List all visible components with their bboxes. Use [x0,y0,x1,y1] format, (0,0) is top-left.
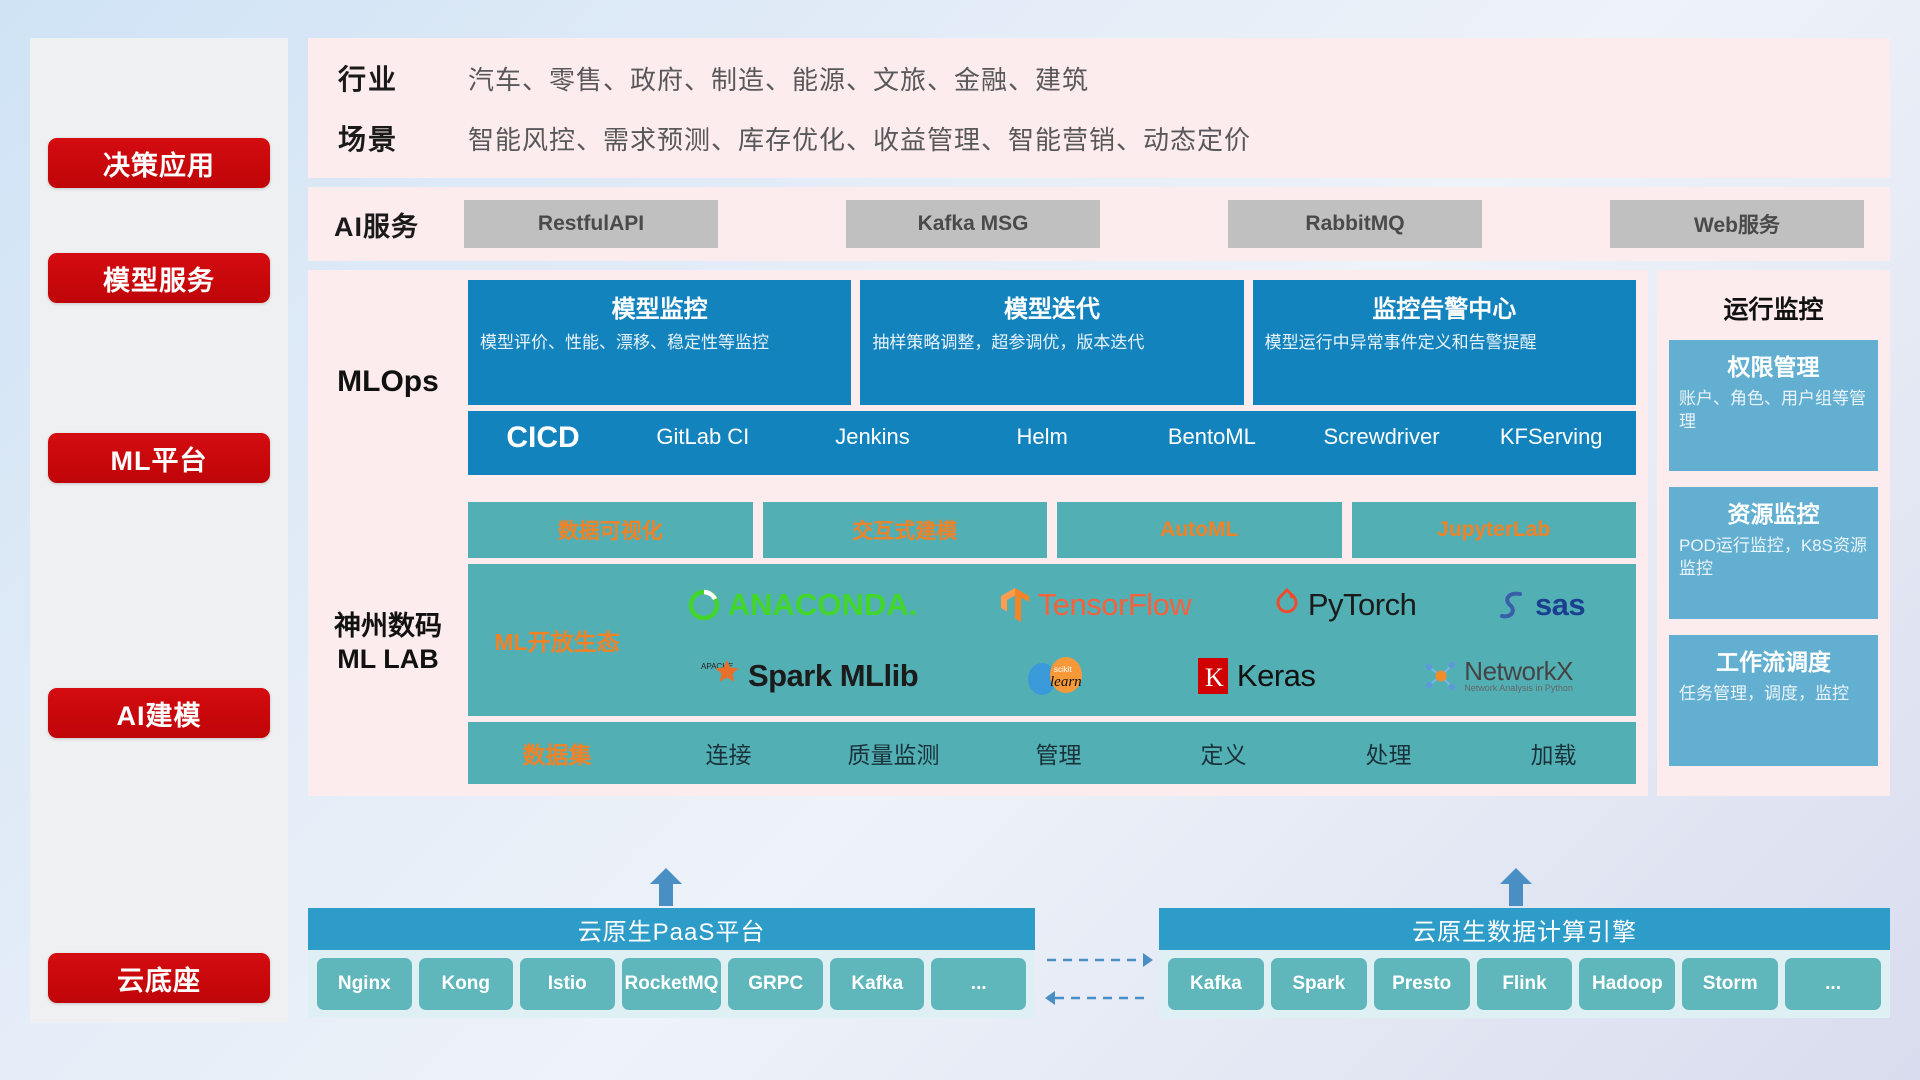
industry-value: 汽车、零售、政府、制造、能源、文旅、金融、建筑 [468,60,1089,97]
card-desc: 模型评价、性能、漂移、稳定性等监控 [480,332,839,355]
dataset-item-load[interactable]: 加载 [1471,736,1636,770]
ai-modeling-band: 神州数码 ML LAB 数据可视化 交互式建模 AutoML JupyterLa… [308,492,1648,796]
dataset-item-quality[interactable]: 质量监测 [811,736,976,770]
dataset-item-manage[interactable]: 管理 [976,736,1141,770]
tool-interactive-modeling[interactable]: 交互式建模 [763,502,1048,558]
stage-badge-cloud-base[interactable]: 云底座 [48,953,270,1003]
ai-service-item-restfulapi[interactable]: RestfulAPI [464,200,718,248]
pytorch-logo[interactable]: PyTorch [1273,587,1416,623]
card-desc: 任务管理，调度，监控 [1679,683,1868,706]
industry-row: 行业 汽车、零售、政府、制造、能源、文旅、金融、建筑 [338,58,1890,98]
ai-service-item-rabbitmq[interactable]: RabbitMQ [1228,200,1482,248]
ml-ecosystem-label: ML开放生态 [468,623,646,657]
chip-more-data[interactable]: ... [1785,958,1881,1010]
svg-text:learn: learn [1050,674,1082,690]
pytorch-icon [1273,588,1301,622]
dataset-item-process[interactable]: 处理 [1306,736,1471,770]
architecture-main: 行业 汽车、零售、政府、制造、能源、文旅、金融、建筑 场景 智能风控、需求预测、… [308,38,1890,796]
stage-badge-model-service[interactable]: 模型服务 [48,253,270,303]
cloud-data-engine-group: 云原生数据计算引擎 Kafka Spark Presto Flink Hadoo… [1159,908,1890,1018]
keras-icon: K [1196,656,1230,696]
spark-wordmark: Spark MLlib [748,658,918,694]
sas-wordmark: sas [1535,587,1585,623]
chip-spark[interactable]: Spark [1271,958,1367,1010]
ai-service-band: AI服务 RestfulAPI Kafka MSG RabbitMQ Web服务 [308,187,1890,261]
mllab-label: 神州数码 ML LAB [308,502,468,784]
run-monitor-card-workflow[interactable]: 工作流调度 任务管理，调度，监控 [1669,635,1878,766]
tool-data-visualization[interactable]: 数据可视化 [468,502,753,558]
scikit-learn-icon: scikit learn [1024,655,1090,697]
chip-storm[interactable]: Storm [1682,958,1778,1010]
spark-mllib-logo[interactable]: APACHE Spark MLlib [699,656,918,696]
card-title: 权限管理 [1679,348,1868,382]
tensorflow-wordmark: TensorFlow [1038,587,1192,623]
dataset-label: 数据集 [468,736,646,770]
keras-logo[interactable]: K Keras [1196,656,1315,696]
card-desc: 账户、角色、用户组等管理 [1679,388,1868,434]
cicd-item-helm[interactable]: Helm [957,421,1127,453]
chip-kafka[interactable]: Kafka [830,958,925,1010]
tool-automl[interactable]: AutoML [1057,502,1342,558]
scenario-row: 场景 智能风控、需求预测、库存优化、收益管理、智能营销、动态定价 [338,118,1890,158]
run-monitor-panel: 运行监控 权限管理 账户、角色、用户组等管理 资源监控 POD运行监控，K8S资… [1657,270,1890,796]
scenario-value: 智能风控、需求预测、库存优化、收益管理、智能营销、动态定价 [468,120,1251,157]
arrow-up-data-icon [1498,868,1534,904]
card-title: 工作流调度 [1679,643,1868,677]
stage-badge-ml-platform[interactable]: ML平台 [48,433,270,483]
chip-grpc[interactable]: GRPC [728,958,823,1010]
keras-wordmark: Keras [1237,658,1315,694]
ai-service-item-kafka-msg[interactable]: Kafka MSG [846,200,1100,248]
sas-icon [1498,588,1528,622]
chip-kafka-data[interactable]: Kafka [1168,958,1264,1010]
cloud-paas-group: 云原生PaaS平台 Nginx Kong Istio RocketMQ GRPC… [308,908,1035,1018]
stage-label: 决策应用 [103,144,215,183]
pytorch-wordmark: PyTorch [1308,587,1416,623]
anaconda-icon [687,588,721,622]
arrow-up-paas-icon [648,868,684,904]
ai-service-item-web[interactable]: Web服务 [1610,200,1864,248]
cicd-title: CICD [468,421,618,455]
cicd-item-bentoml[interactable]: BentoML [1127,421,1297,453]
stage-label: ML平台 [111,439,208,478]
networkx-wordmark: NetworkX [1464,658,1573,684]
ecosystem-logo-line-1: ANACONDA. TensorFlow PyTorch [646,569,1626,640]
card-title: 模型监控 [480,289,839,324]
cicd-bar: CICD GitLab CI Jenkins Helm BentoML Scre… [468,411,1636,475]
networkx-logo[interactable]: NetworkX Network Analysis in Python [1421,657,1573,695]
stage-label: 云底座 [117,959,201,998]
chip-rocketmq[interactable]: RocketMQ [622,958,722,1010]
chip-istio[interactable]: Istio [520,958,615,1010]
stage-badge-decision[interactable]: 决策应用 [48,138,270,188]
chip-presto[interactable]: Presto [1374,958,1470,1010]
svg-text:K: K [1205,663,1224,692]
mlops-card-model-iteration[interactable]: 模型迭代 抽样策略调整，超参调优，版本迭代 [860,280,1243,405]
chip-flink[interactable]: Flink [1477,958,1573,1010]
run-monitor-card-permissions[interactable]: 权限管理 账户、角色、用户组等管理 [1669,340,1878,471]
cloud-foundation: 云原生PaaS平台 Nginx Kong Istio RocketMQ GRPC… [308,890,1890,1035]
dataset-row: 数据集 连接 质量监测 管理 定义 处理 加载 [468,722,1636,784]
card-desc: POD运行监控，K8S资源监控 [1679,535,1868,581]
cicd-item-kfserving[interactable]: KFServing [1466,421,1636,453]
mllab-label-line1: 神州数码 [334,611,442,642]
sas-logo[interactable]: sas [1498,587,1585,623]
mllab-tools-row: 数据可视化 交互式建模 AutoML JupyterLab [468,502,1636,558]
industry-scenario-band: 行业 汽车、零售、政府、制造、能源、文旅、金融、建筑 场景 智能风控、需求预测、… [308,38,1890,178]
cloud-paas-title: 云原生PaaS平台 [308,908,1035,950]
stage-badge-ai-modeling[interactable]: AI建模 [48,688,270,738]
cicd-item-gitlab-ci[interactable]: GitLab CI [618,421,788,453]
mllab-label-line2: ML LAB [337,644,439,675]
card-title: 资源监控 [1679,495,1868,529]
mlops-band: MLOps 模型监控 模型评价、性能、漂移、稳定性等监控 模型迭代 抽样策略调整… [308,270,1648,492]
scenario-key: 场景 [338,118,468,158]
anaconda-wordmark: ANACONDA. [728,587,917,623]
anaconda-logo[interactable]: ANACONDA. [687,587,917,623]
card-title: 模型迭代 [872,289,1231,324]
cloud-link-arrows [1043,948,1155,1010]
run-monitor-card-resources[interactable]: 资源监控 POD运行监控，K8S资源监控 [1669,487,1878,618]
dataset-item-define[interactable]: 定义 [1141,736,1306,770]
chip-hadoop[interactable]: Hadoop [1579,958,1675,1010]
networkx-icon [1421,657,1457,695]
networkx-subtitle: Network Analysis in Python [1464,684,1573,693]
tool-jupyterlab[interactable]: JupyterLab [1352,502,1637,558]
platform-and-monitor: MLOps 模型监控 模型评价、性能、漂移、稳定性等监控 模型迭代 抽样策略调整… [308,270,1890,796]
ai-service-label: AI服务 [334,205,464,244]
card-desc: 抽样策略调整，超参调优，版本迭代 [872,332,1231,355]
card-desc: 模型运行中异常事件定义和告警提醒 [1265,332,1624,355]
tensorflow-icon [999,586,1031,624]
industry-key: 行业 [338,58,468,98]
run-monitor-title: 运行监控 [1669,290,1878,326]
chip-kong[interactable]: Kong [419,958,514,1010]
cicd-item-screwdriver[interactable]: Screwdriver [1297,421,1467,453]
mlops-label: MLOps [308,280,468,484]
spark-icon: APACHE [699,656,741,696]
dataset-item-connect[interactable]: 连接 [646,736,811,770]
cloud-data-engine-title: 云原生数据计算引擎 [1159,908,1890,950]
tensorflow-logo[interactable]: TensorFlow [999,586,1192,624]
mlops-card-alert-center[interactable]: 监控告警中心 模型运行中异常事件定义和告警提醒 [1253,280,1636,405]
stage-label: 模型服务 [103,259,215,298]
chip-nginx[interactable]: Nginx [317,958,412,1010]
svg-text:scikit: scikit [1054,665,1073,674]
ml-ecosystem-row: ML开放生态 ANACONDA. TensorFlow [468,564,1636,716]
card-title: 监控告警中心 [1265,289,1624,324]
ecosystem-logo-line-2: APACHE Spark MLlib scikit [646,640,1626,711]
cicd-item-jenkins[interactable]: Jenkins [788,421,958,453]
chip-more-paas[interactable]: ... [931,958,1026,1010]
scikit-learn-logo[interactable]: scikit learn [1024,655,1090,697]
stage-rail: 决策应用 模型服务 ML平台 AI建模 云底座 [30,38,288,1023]
stage-label: AI建模 [117,694,202,733]
mlops-card-model-monitoring[interactable]: 模型监控 模型评价、性能、漂移、稳定性等监控 [468,280,851,405]
